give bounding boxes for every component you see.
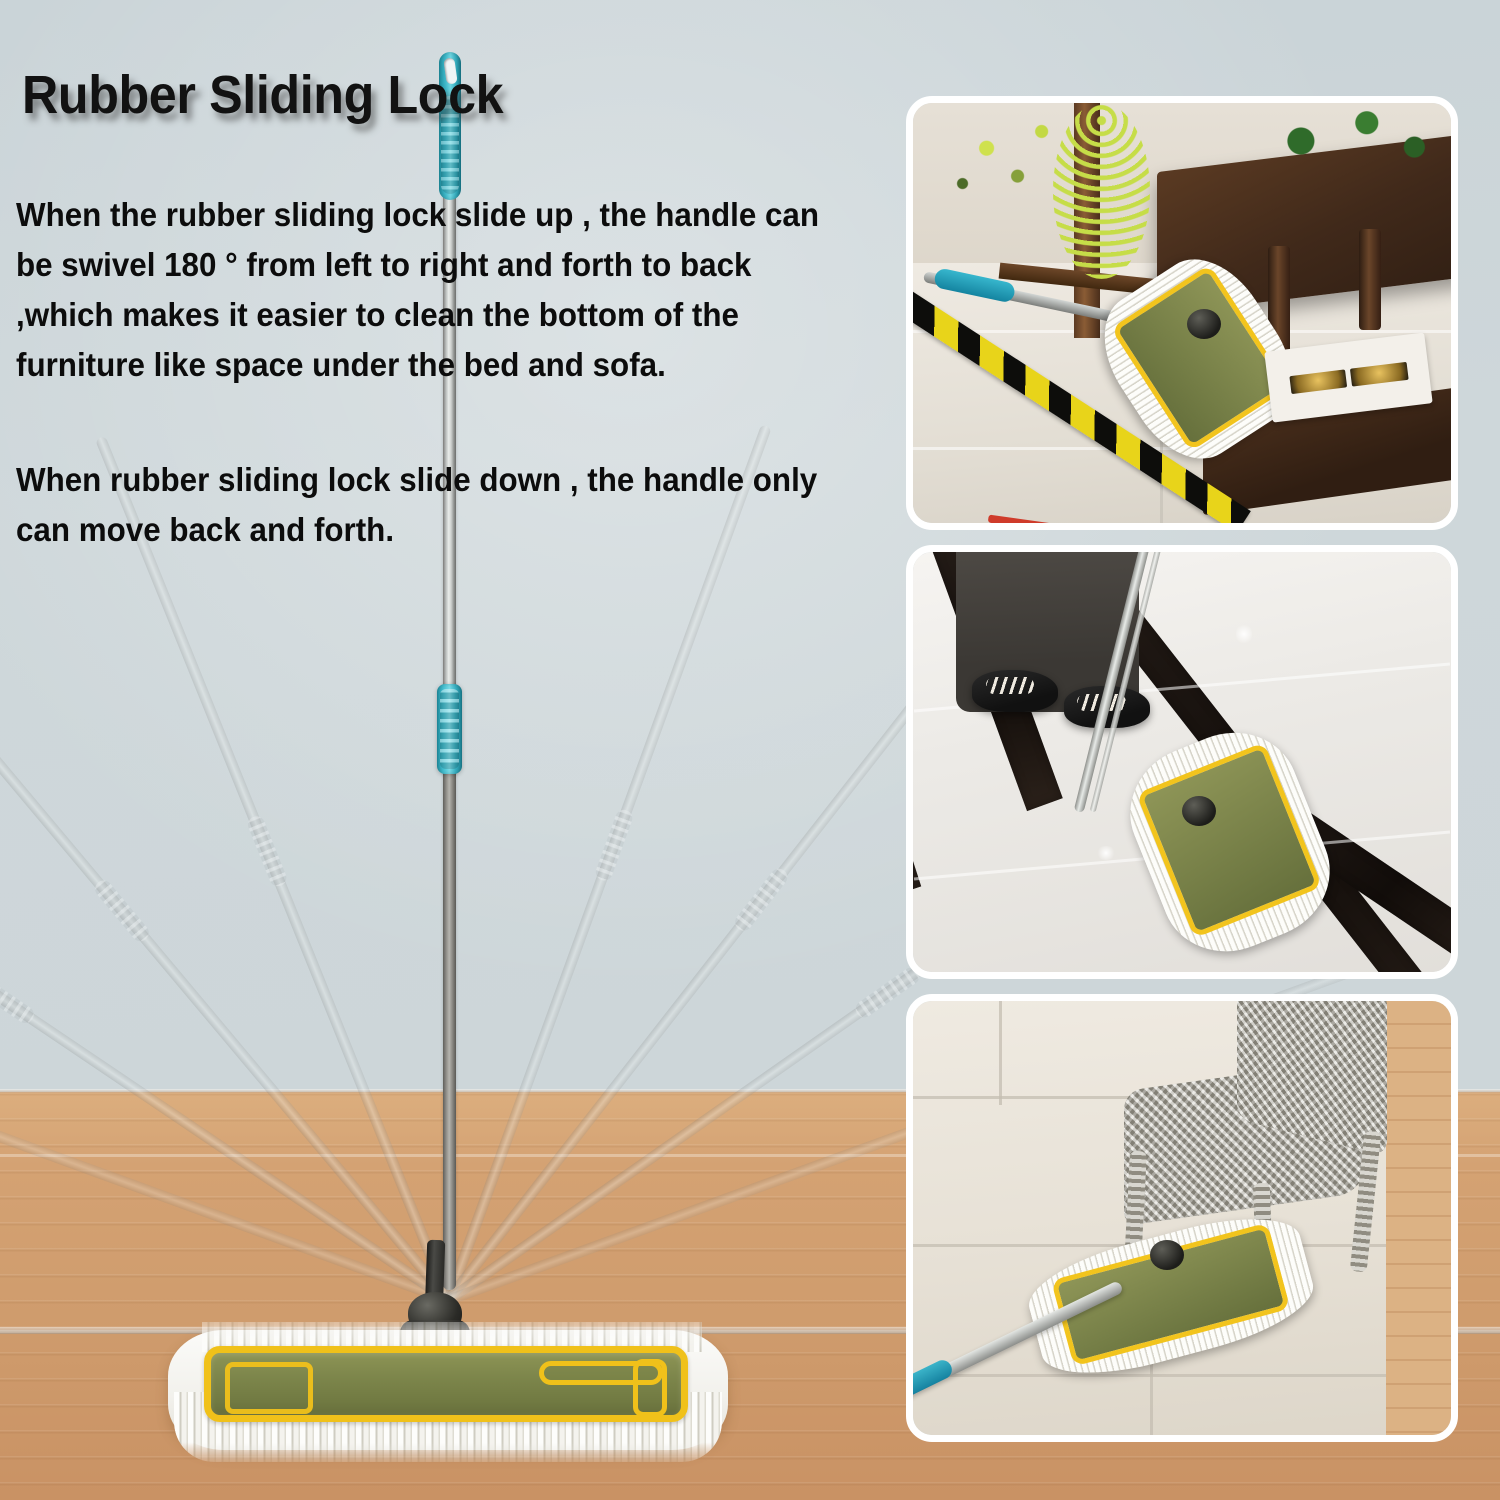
- photo-under-chair[interactable]: [906, 994, 1458, 1442]
- pad-trim-left-pocket: [225, 1362, 313, 1414]
- photo2-swivel-joint: [1182, 796, 1216, 826]
- photo-under-table[interactable]: [906, 96, 1458, 530]
- infographic-canvas: Rubber Sliding Lock When the rubber slid…: [0, 0, 1500, 1500]
- pad-right-pocket: [633, 1359, 667, 1417]
- olive-mop-pad: [204, 1346, 688, 1422]
- photo2-light-reflection: [1236, 623, 1252, 645]
- photo1-swivel-joint: [1187, 309, 1221, 339]
- photo3-grout: [999, 1001, 1002, 1105]
- paragraph-slide-up: When the rubber sliding lock slide up , …: [16, 190, 852, 390]
- photo3-grout: [913, 1374, 1451, 1377]
- paragraph-slide-down: When rubber sliding lock slide down , th…: [16, 455, 852, 555]
- photo3-swivel-joint: [1150, 1240, 1184, 1270]
- photo3-wood-flooring: [1386, 1001, 1451, 1435]
- photo-marble-hall[interactable]: [906, 545, 1458, 979]
- mop-head: [168, 1330, 728, 1450]
- photo2-light-reflection: [1096, 846, 1116, 860]
- photo1-table-leg: [1359, 229, 1381, 330]
- photo1-pothos-leaves: [1257, 103, 1440, 179]
- photo2-sneaker-left: [972, 670, 1058, 712]
- pole-lower-section: [443, 760, 456, 1290]
- photo1-hanging-vine: [1053, 103, 1150, 279]
- page-title: Rubber Sliding Lock: [22, 64, 503, 126]
- rubber-sliding-lock[interactable]: [437, 684, 462, 774]
